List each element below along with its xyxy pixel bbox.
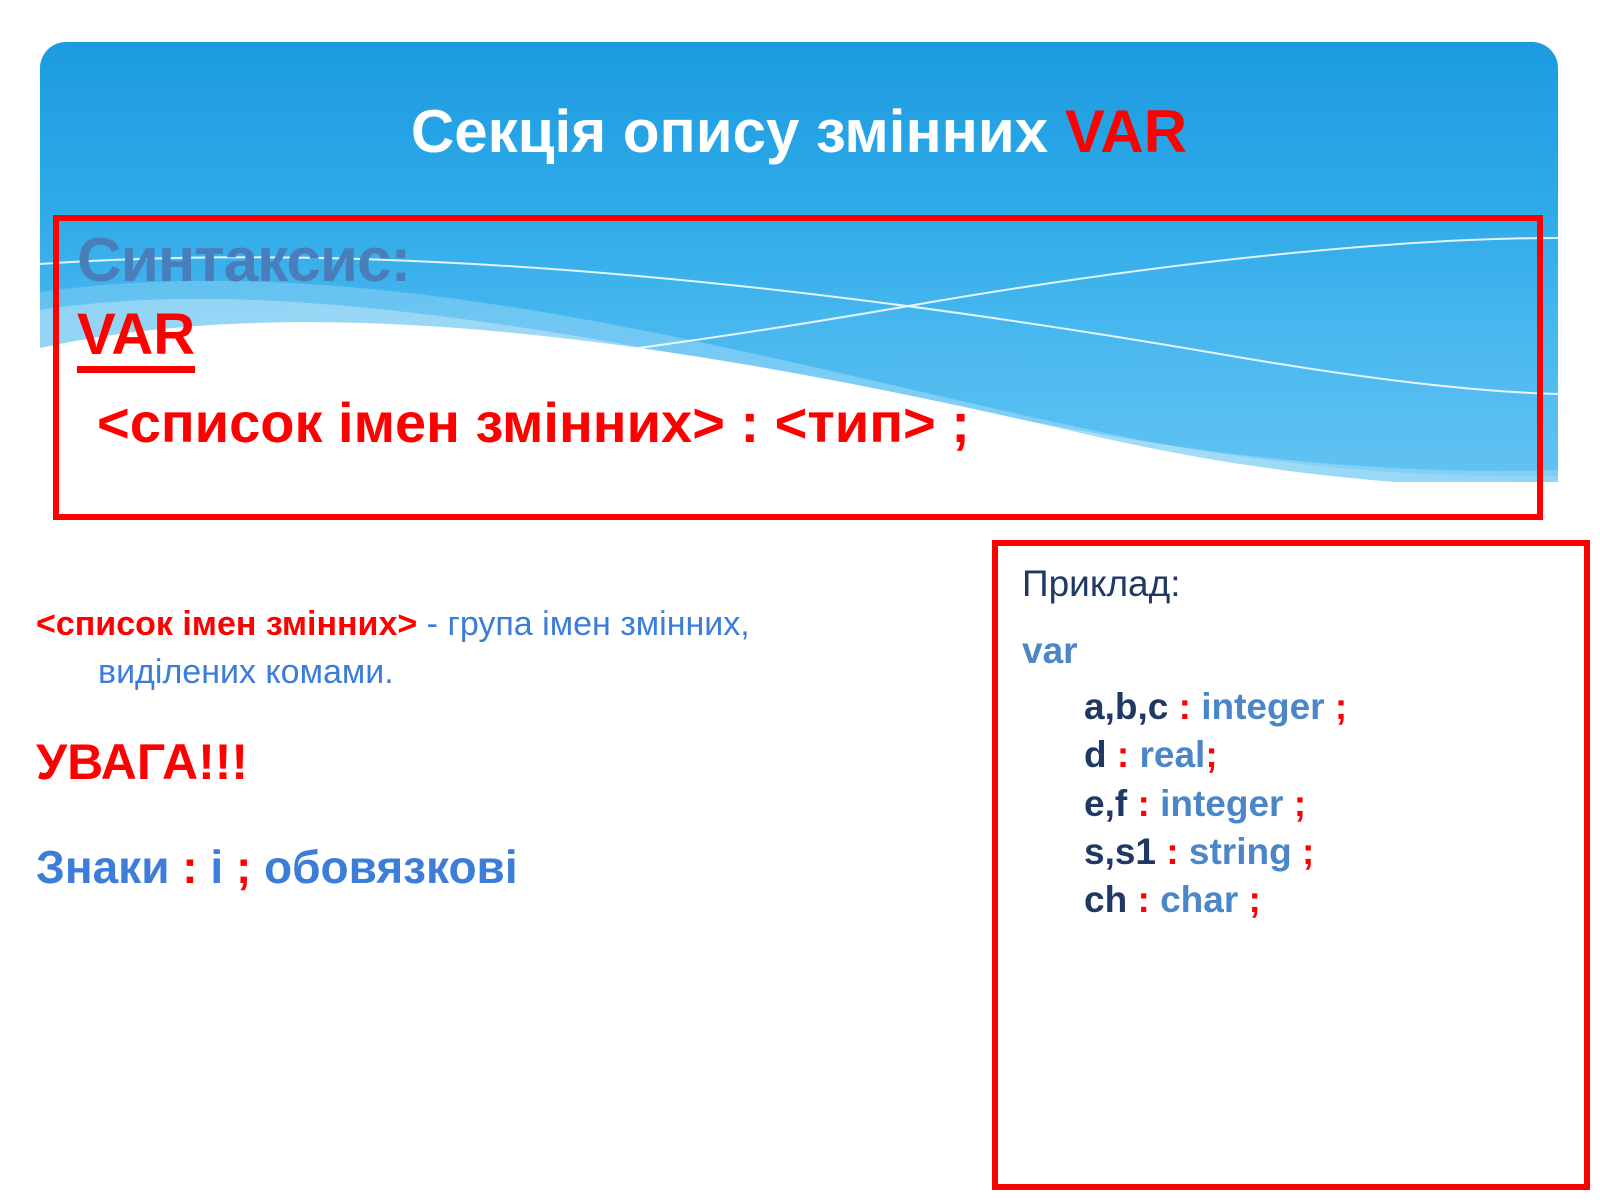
declaration-names: d [1084, 734, 1107, 775]
declaration-terminator: ; [1325, 686, 1348, 727]
signs-prefix: Знаки [36, 841, 182, 893]
declaration-terminator: ; [1238, 879, 1261, 920]
declaration-type: char [1160, 879, 1238, 920]
definition-paragraph: <список імен змінних> - група імен змінн… [36, 600, 916, 697]
page-title: Секція опису змінних VAR [40, 100, 1558, 163]
example-declaration-list: a,b,c : integer ;d : real;e,f : integer … [1084, 683, 1584, 923]
declaration-names: ch [1084, 879, 1127, 920]
syntax-keyword-var: VAR [77, 306, 195, 373]
syntax-template: <список імен змінних> : <тип> ; [97, 395, 1537, 451]
declaration-type: real [1140, 734, 1206, 775]
left-content-column: <список імен змінних> - група імен змінн… [36, 600, 916, 892]
declaration-type: integer [1160, 783, 1283, 824]
example-declaration-line: d : real; [1084, 731, 1584, 779]
example-callout-box: Приклад: var a,b,c : integer ;d : real;e… [992, 540, 1590, 1190]
declaration-names: a,b,c [1084, 686, 1168, 727]
syntax-callout-box: Синтаксис: VAR <список імен змінних> : <… [53, 215, 1543, 520]
example-label: Приклад: [1022, 564, 1584, 605]
colon-symbol: : [182, 841, 197, 893]
declaration-names: e,f [1084, 783, 1127, 824]
semicolon-symbol: ; [236, 841, 251, 893]
example-declaration-line: ch : char ; [1084, 876, 1584, 924]
syntax-callout-content: Синтаксис: VAR <список імен змінних> : <… [59, 221, 1537, 514]
example-declaration-line: s,s1 : string ; [1084, 828, 1584, 876]
declaration-colon: : [1127, 783, 1160, 824]
example-keyword-var: var [1022, 631, 1584, 672]
declaration-colon: : [1107, 734, 1140, 775]
example-callout-content: Приклад: var a,b,c : integer ;d : real;e… [998, 546, 1584, 924]
declaration-colon: : [1127, 879, 1160, 920]
declaration-type: integer [1201, 686, 1324, 727]
page-title-keyword: VAR [1065, 98, 1187, 165]
page-title-main: Секція опису змінних [411, 98, 1065, 165]
declaration-names: s,s1 [1084, 831, 1156, 872]
declaration-terminator: ; [1292, 831, 1315, 872]
signs-suffix: обовязкові [251, 841, 517, 893]
definition-term: <список імен змінних> [36, 605, 417, 643]
mandatory-signs-line: Знаки : і ; обовязкові [36, 842, 916, 893]
declaration-colon: : [1168, 686, 1201, 727]
example-declaration-line: e,f : integer ; [1084, 780, 1584, 828]
declaration-terminator: ; [1283, 783, 1306, 824]
declaration-terminator: ; [1205, 734, 1217, 775]
example-declaration-line: a,b,c : integer ; [1084, 683, 1584, 731]
attention-heading: УВАГА!!! [36, 735, 916, 790]
declaration-type: string [1189, 831, 1292, 872]
syntax-heading: Синтаксис: [77, 225, 1537, 296]
declaration-colon: : [1156, 831, 1189, 872]
signs-conjunction: і [198, 841, 236, 893]
